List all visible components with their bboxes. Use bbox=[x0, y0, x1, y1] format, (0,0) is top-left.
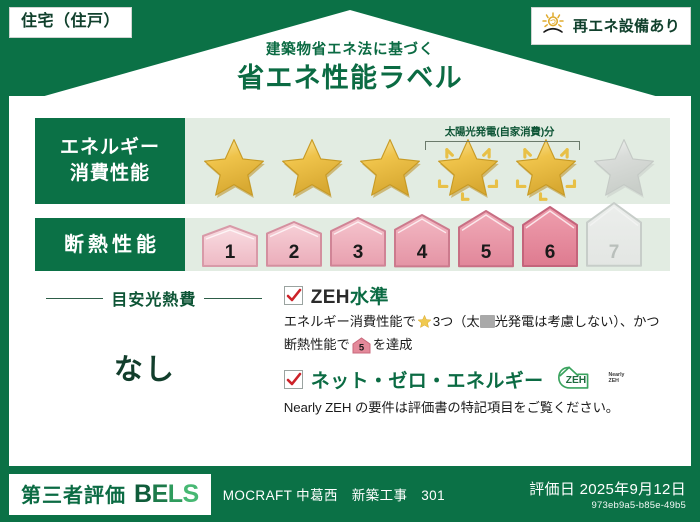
insulation-level-scale: 1 2 3 4 bbox=[191, 201, 645, 271]
star-1-icon bbox=[195, 138, 272, 200]
net-zero-energy-title-jp: ネット・ゼロ・エネルギー bbox=[311, 371, 544, 392]
insulation-level-1: 1 bbox=[199, 224, 261, 268]
bels-letter-e: E bbox=[152, 480, 168, 508]
zeh-standard-body: エネルギー消費性能で3つ（太光発電は考慮しない）、かつ断熱性能で5を達成 bbox=[284, 312, 671, 360]
third-party-eval-label: 第三者評価 bbox=[21, 479, 126, 508]
redacted-block bbox=[480, 315, 495, 328]
energy-performance-key: エネルギー 消費性能 bbox=[35, 118, 185, 204]
zeh-body-text-b: 3つ（太 bbox=[433, 314, 480, 329]
footer-meta: 評価日 2025年9月12日 973eb9a5-b85e-49b5 bbox=[529, 478, 686, 511]
zeh-logo-subtext: Nearly ZEH bbox=[609, 373, 625, 385]
star-4-icon bbox=[429, 138, 506, 200]
zeh-house-logo-icon: ZEH bbox=[557, 364, 599, 395]
zeh-standard-item: ZEH水準 エネルギー消費性能で3つ（太光発電は考慮しない）、かつ断熱性能で5を… bbox=[284, 282, 671, 360]
utility-cost-value: なし bbox=[34, 346, 280, 388]
energy-performance-value: 太陽光発電(自家消費)分 bbox=[185, 118, 670, 204]
insulation-level-number: 2 bbox=[263, 242, 325, 264]
bels-certification-chip: 第三者評価 BELS bbox=[9, 474, 211, 515]
star-2-icon bbox=[273, 138, 350, 200]
zeh-standard-checkbox[interactable] bbox=[284, 286, 303, 305]
project-name: MOCRAFT 中葛西 新築工事 301 bbox=[223, 484, 445, 504]
net-zero-energy-header: ネット・ゼロ・エネルギー ZEH Nearly ZEH bbox=[284, 364, 671, 395]
renewable-equipment-tag: つ 再エネ設備あり bbox=[531, 7, 691, 45]
renewable-tag-label: 再エネ設備あり bbox=[573, 15, 680, 36]
zeh-standard-title: ZEH水準 bbox=[311, 282, 389, 309]
zeh-standard-title-en: ZEH bbox=[311, 287, 350, 308]
net-zero-energy-item: ネット・ゼロ・エネルギー ZEH Nearly ZEH bbox=[284, 364, 671, 418]
house-level-badge-icon: 5 bbox=[352, 342, 371, 357]
label-title-block: 建築物省エネ法に基づく 省エネ性能ラベル bbox=[0, 42, 700, 94]
insulation-level-3: 3 bbox=[327, 216, 389, 268]
insulation-level-number: 3 bbox=[327, 242, 389, 264]
label-lower-section: 目安光熱費 なし ZEH水準 bbox=[34, 280, 671, 460]
sun-renewable-icon: つ bbox=[540, 12, 566, 39]
insulation-level-number: 6 bbox=[519, 242, 581, 264]
insulation-level-number: 1 bbox=[199, 242, 261, 264]
energy-performance-row: エネルギー 消費性能 太陽光発電(自家消費)分 bbox=[34, 117, 671, 205]
zeh-logo-sub-line2: ZEH bbox=[609, 378, 619, 384]
insulation-level-number: 5 bbox=[455, 242, 517, 264]
label-footer-bar: 第三者評価 BELS MOCRAFT 中葛西 新築工事 301 評価日 2025… bbox=[0, 466, 700, 522]
insulation-level-6: 6 bbox=[519, 205, 581, 268]
rule-left bbox=[46, 298, 103, 299]
evaluation-date: 評価日 2025年9月12日 bbox=[529, 478, 686, 499]
rule-right bbox=[204, 298, 261, 299]
net-zero-energy-checkbox[interactable] bbox=[284, 370, 303, 389]
insulation-level-number: 7 bbox=[583, 242, 645, 264]
utility-cost-block: 目安光熱費 なし bbox=[34, 280, 280, 460]
insulation-key-label: 断熱性能 bbox=[60, 233, 160, 257]
bels-letter-b: B bbox=[134, 480, 152, 508]
insulation-performance-value: 1 2 3 4 bbox=[185, 218, 670, 271]
net-zero-energy-body: Nearly ZEH の要件は評価書の特記項目をご覧ください。 bbox=[284, 398, 671, 418]
energy-star-rating bbox=[191, 138, 662, 204]
house-type-tag-label: 住宅（住戸） bbox=[21, 13, 120, 30]
label-content: エネルギー 消費性能 太陽光発電(自家消費)分 bbox=[9, 100, 691, 515]
zeh-block: ZEH水準 エネルギー消費性能で3つ（太光発電は考慮しない）、かつ断熱性能で5を… bbox=[280, 280, 671, 460]
net-zero-energy-title: ネット・ゼロ・エネルギー bbox=[311, 366, 544, 393]
insulation-level-5: 5 bbox=[455, 209, 517, 268]
star-3-icon bbox=[351, 138, 428, 200]
insulation-level-7: 7 bbox=[583, 201, 645, 268]
bels-logo: BELS bbox=[134, 480, 199, 509]
svg-text:ZEH: ZEH bbox=[565, 375, 586, 386]
insulation-level-number: 4 bbox=[391, 242, 453, 264]
small-star-icon bbox=[417, 317, 432, 332]
insulation-level-4: 4 bbox=[391, 213, 453, 268]
star-5-icon bbox=[507, 138, 584, 200]
evaluation-date-value: 2025年9月12日 bbox=[580, 481, 686, 498]
zeh-standard-title-jp: 水準 bbox=[350, 287, 389, 308]
svg-text:5: 5 bbox=[359, 342, 365, 353]
svg-text:つ: つ bbox=[550, 19, 556, 26]
bels-letter-s: S bbox=[183, 480, 199, 508]
house-type-tag: 住宅（住戸） bbox=[9, 7, 132, 38]
energy-key-line1: エネルギー bbox=[60, 135, 160, 161]
energy-key-line2: 消費性能 bbox=[70, 161, 150, 187]
star-6-icon bbox=[585, 138, 662, 200]
insulation-performance-row: 断熱性能 1 2 bbox=[34, 217, 671, 272]
bels-energy-label: 住宅（住戸） つ 再エネ設備あり 建築物省エネ法に基づ bbox=[0, 0, 700, 522]
insulation-level-2: 2 bbox=[263, 220, 325, 268]
evaluation-date-label: 評価日 bbox=[529, 481, 575, 498]
zeh-body-text-a: エネルギー消費性能で bbox=[284, 314, 416, 329]
zeh-body-text-e: を達成 bbox=[373, 337, 413, 352]
utility-cost-title: 目安光熱費 bbox=[111, 286, 196, 310]
record-id: 973eb9a5-b85e-49b5 bbox=[529, 500, 686, 511]
bels-letter-l: L bbox=[168, 480, 183, 508]
title-main: 省エネ性能ラベル bbox=[0, 63, 700, 94]
utility-cost-header: 目安光熱費 bbox=[34, 286, 280, 310]
insulation-performance-key: 断熱性能 bbox=[35, 218, 185, 271]
zeh-standard-header: ZEH水準 bbox=[284, 282, 671, 309]
zeh-body-text-c: 光発電 bbox=[495, 314, 535, 329]
